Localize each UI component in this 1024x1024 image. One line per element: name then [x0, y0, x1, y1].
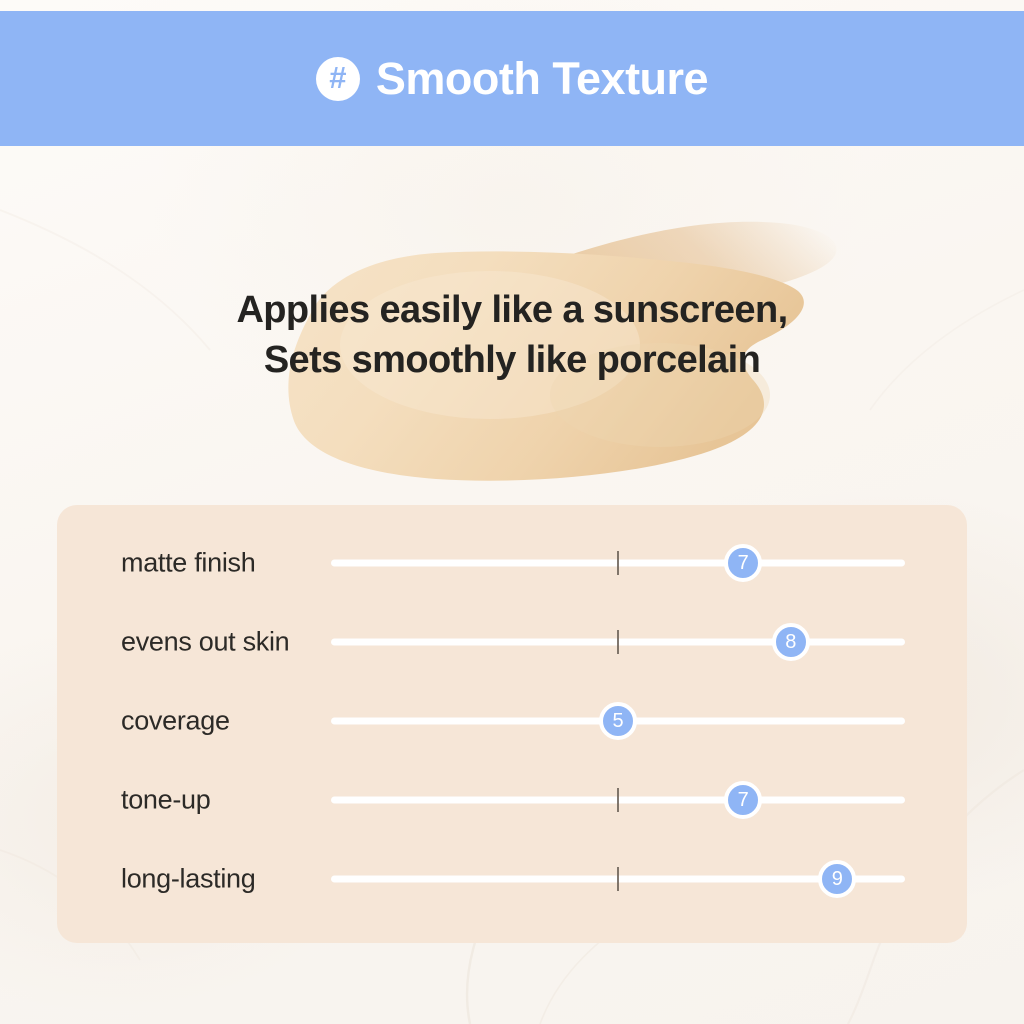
banner-content: # Smooth Texture	[316, 56, 708, 101]
headline-line-1: Applies easily like a sunscreen,	[236, 289, 787, 331]
slider-marker[interactable]: 8	[772, 623, 810, 661]
rating-label: evens out skin	[121, 629, 289, 656]
headline-line-2: Sets smoothly like porcelain	[0, 336, 1024, 386]
slider-marker[interactable]: 9	[818, 860, 856, 898]
slider-marker[interactable]: 7	[724, 544, 762, 582]
rating-slider[interactable]: 5	[331, 701, 905, 741]
rating-label: long-lasting	[121, 866, 256, 893]
slider-midpoint-tick	[617, 867, 619, 891]
hash-symbol: #	[329, 62, 346, 93]
hash-icon: #	[316, 57, 360, 101]
headline: Applies easily like a sunscreen, Sets sm…	[0, 286, 1024, 386]
rating-row: long-lasting 9	[57, 859, 967, 899]
rating-slider[interactable]: 7	[331, 543, 905, 583]
header-banner: # Smooth Texture	[0, 11, 1024, 146]
banner-title: Smooth Texture	[376, 56, 708, 101]
rating-row: coverage 5	[57, 701, 967, 741]
rating-label: tone-up	[121, 787, 210, 814]
ratings-panel: matte finish 7 evens out skin 8 coverage…	[57, 505, 967, 943]
slider-marker[interactable]: 7	[724, 781, 762, 819]
rating-row: tone-up 7	[57, 780, 967, 820]
rating-label: matte finish	[121, 550, 255, 577]
rating-row: evens out skin 8	[57, 622, 967, 662]
rating-slider[interactable]: 8	[331, 622, 905, 662]
rating-row: matte finish 7	[57, 543, 967, 583]
slider-midpoint-tick	[617, 788, 619, 812]
rating-slider[interactable]: 9	[331, 859, 905, 899]
slider-midpoint-tick	[617, 551, 619, 575]
slider-marker[interactable]: 5	[599, 702, 637, 740]
rating-slider[interactable]: 7	[331, 780, 905, 820]
page-canvas: # Smooth Texture Applies easily like a s…	[0, 0, 1024, 1024]
slider-midpoint-tick	[617, 630, 619, 654]
rating-label: coverage	[121, 708, 230, 735]
